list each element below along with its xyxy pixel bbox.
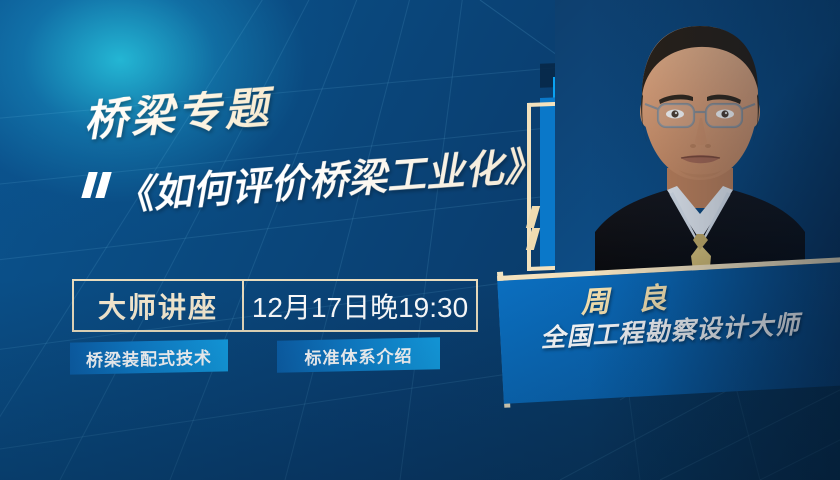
quote-open-icon — [85, 172, 113, 198]
headline-main-wrap: 桥梁专题 — [82, 66, 544, 144]
topic-tag[interactable]: 桥梁装配式技术 — [70, 339, 228, 374]
headline-main: 桥梁专题 — [82, 66, 544, 144]
quote-close-icon — [529, 206, 542, 250]
speaker-photo — [555, 0, 840, 300]
topic-tag[interactable]: 标准体系介绍 — [277, 337, 440, 372]
lecture-datetime: 12月17日晚19:30 — [244, 281, 476, 330]
headline-subtitle: 《如何评价桥梁工业化》 — [112, 135, 544, 222]
lecture-label: 大师讲座 — [74, 281, 244, 330]
headline-sub-wrap: 《如何评价桥梁工业化》 — [40, 160, 540, 250]
speaker-nameplate-text: 周 良 全国工程勘察设计大师 — [497, 257, 840, 404]
lecture-info-box: 大师讲座 12月17日晚19:30 — [72, 279, 478, 332]
topic-tag-list: 桥梁装配式技术 标准体系介绍 — [70, 341, 490, 373]
poster-canvas: 桥梁专题 《如何评价桥梁工业化》 大师讲座 12月17日晚19:30 桥梁装配式… — [0, 0, 840, 480]
